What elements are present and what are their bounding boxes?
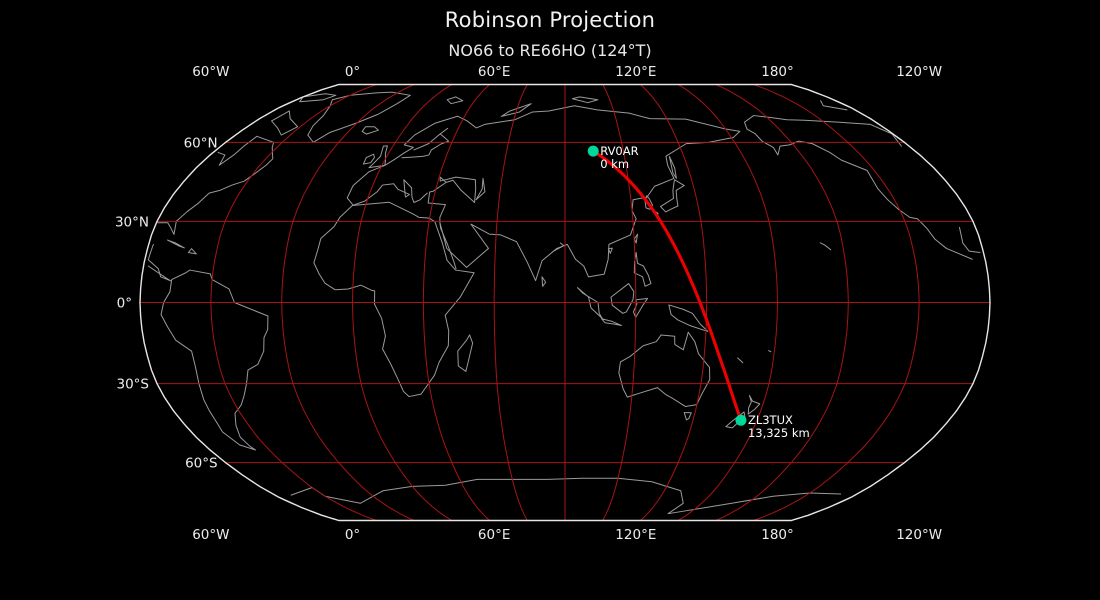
coastline-segment [272, 111, 298, 135]
graticule-layer [140, 85, 990, 521]
coastline-segment [458, 335, 473, 371]
lat-tick-1: 30°N [115, 214, 149, 230]
marker-distance-zl3tux: 13,325 km [748, 426, 810, 440]
coastline-segment [291, 487, 312, 495]
robinson-map: RV0AR0 kmZL3TUX13,325 km 0°60°E120°E180°… [0, 0, 1100, 600]
lon-tick-bottom-2: 120°E [615, 527, 656, 543]
coastline-segment [619, 332, 710, 406]
coastline-segment [738, 358, 743, 363]
coastline-segment [161, 270, 268, 450]
coastline-segment [754, 116, 902, 147]
coastline-segment [820, 243, 831, 250]
coastline-segment [611, 284, 634, 314]
lat-tick-2: 0° [117, 296, 132, 312]
coastline-segment [634, 234, 637, 243]
lon-tick-top-3: 180° [761, 64, 794, 80]
coastline-segment [168, 240, 185, 248]
great-circle-path-layer [593, 151, 741, 420]
coastline-segment [744, 116, 972, 260]
coastline-segment [572, 97, 597, 103]
lon-tick-bottom-3: 180° [761, 527, 794, 543]
endpoint-marker-rv0ar[interactable] [588, 146, 599, 157]
coastline-segment [402, 128, 449, 157]
lon-tick-top-1: 60°E [478, 64, 510, 80]
coastline-segment [553, 243, 563, 251]
coastline-segment [661, 180, 685, 212]
coastline-segment [821, 101, 847, 110]
lon-tick-top-5: 60°W [192, 64, 229, 80]
coastline-segment [542, 277, 546, 286]
map-figure: Robinson Projection NO66 to RE66HO (124°… [0, 0, 1100, 600]
lon-tick-top-2: 120°E [615, 64, 656, 80]
lat-tick-4: 60°S [185, 456, 218, 472]
coastline-segment [363, 154, 374, 164]
coastline-segment [447, 97, 463, 104]
coastline-segment [148, 244, 171, 280]
lon-tick-bottom-5: 60°W [192, 527, 229, 543]
coastline-segment [684, 412, 691, 419]
coastline-segment [769, 351, 771, 352]
latitude-labels: 60°N30°N0°30°S60°S [115, 135, 218, 471]
lon-tick-top-0: 0° [345, 64, 360, 80]
marker-callsign-zl3tux: ZL3TUX [748, 413, 793, 427]
marker-distance-rv0ar: 0 km [600, 157, 629, 171]
coastline-segment [577, 288, 602, 319]
coastline-segment [353, 180, 427, 205]
great-circle-path [593, 151, 741, 420]
coastline-segment [347, 106, 725, 205]
lon-tick-bottom-0: 0° [345, 527, 360, 543]
coastline-segment [428, 129, 740, 281]
lat-tick-0: 60°N [184, 135, 218, 151]
longitude-labels-top: 0°60°E120°E180°120°W60°W [192, 64, 942, 80]
coastline-segment [188, 249, 196, 254]
lon-tick-top-4: 120°W [896, 64, 942, 80]
lon-tick-bottom-4: 120°W [896, 527, 942, 543]
coastline-segment [476, 178, 485, 199]
coastline-segment [362, 127, 378, 134]
coastline-segment [634, 252, 651, 286]
coastline-segment [369, 146, 387, 168]
coastline-segment [314, 202, 474, 396]
coastline-segment [300, 94, 336, 102]
coastline-segment [748, 395, 760, 414]
lat-tick-3: 30°S [117, 377, 150, 393]
coastline-segment [602, 319, 622, 326]
marker-callsign-rv0ar: RV0AR [600, 144, 638, 158]
longitude-labels-bottom: 0°60°E120°E180°120°W60°W [192, 527, 942, 543]
lon-tick-bottom-1: 60°E [478, 527, 510, 543]
endpoint-marker-zl3tux[interactable] [735, 415, 746, 426]
